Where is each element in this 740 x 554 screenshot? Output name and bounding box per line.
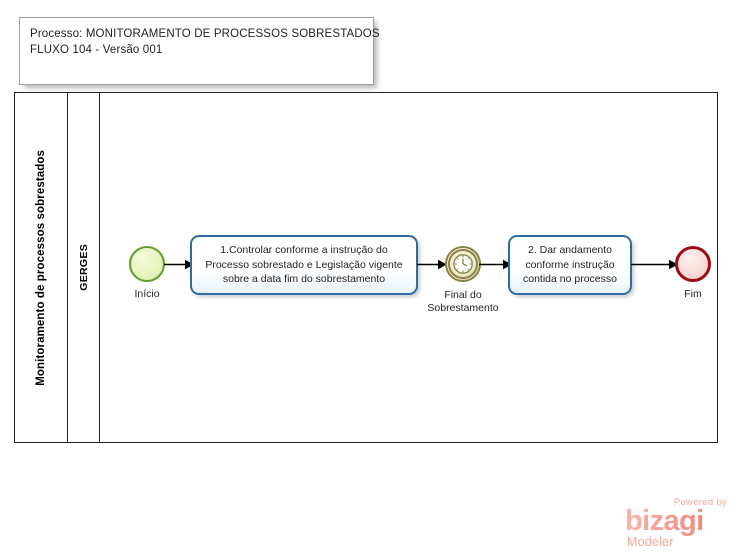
process-title-line-1: Processo: MONITORAMENTO DE PROCESSOS SOB… <box>30 26 363 42</box>
clock-icon <box>452 253 474 275</box>
task-controlar-instrucao[interactable]: 1.Controlar conforme a instrução do Proc… <box>190 235 418 295</box>
start-event[interactable] <box>129 246 165 282</box>
timer-event-label: Final do Sobrestamento <box>405 289 521 315</box>
start-event-label: Início <box>109 288 185 301</box>
lane-label-text: GERGES <box>78 244 90 291</box>
modeler-wordmark: Modeler <box>627 535 674 549</box>
task-dar-andamento[interactable]: 2. Dar andamento conforme instrução cont… <box>508 235 632 295</box>
pool-label-text: Monitoramento de processos sobrestados <box>35 150 47 386</box>
bizagi-wordmark: bizagi <box>625 506 704 536</box>
sequence-flow-task1-to-timer[interactable] <box>417 259 447 270</box>
lane-label-gerges: GERGES <box>68 93 100 442</box>
end-event[interactable] <box>675 246 711 282</box>
end-event-label: Fim <box>655 288 731 301</box>
process-title-line-2: FLUXO 104 - Versão 001 <box>30 42 363 58</box>
task-2-label: 2. Dar andamento conforme instrução cont… <box>517 243 623 287</box>
task-1-label: 1.Controlar conforme a instrução do Proc… <box>199 243 408 287</box>
sequence-flow-task2-to-end[interactable] <box>631 259 678 270</box>
process-title-box: Processo: MONITORAMENTO DE PROCESSOS SOB… <box>19 17 374 85</box>
bizagi-logo: Powered by bizagi Modeler <box>625 497 729 547</box>
pool-label: Monitoramento de processos sobrestados <box>15 93 68 442</box>
